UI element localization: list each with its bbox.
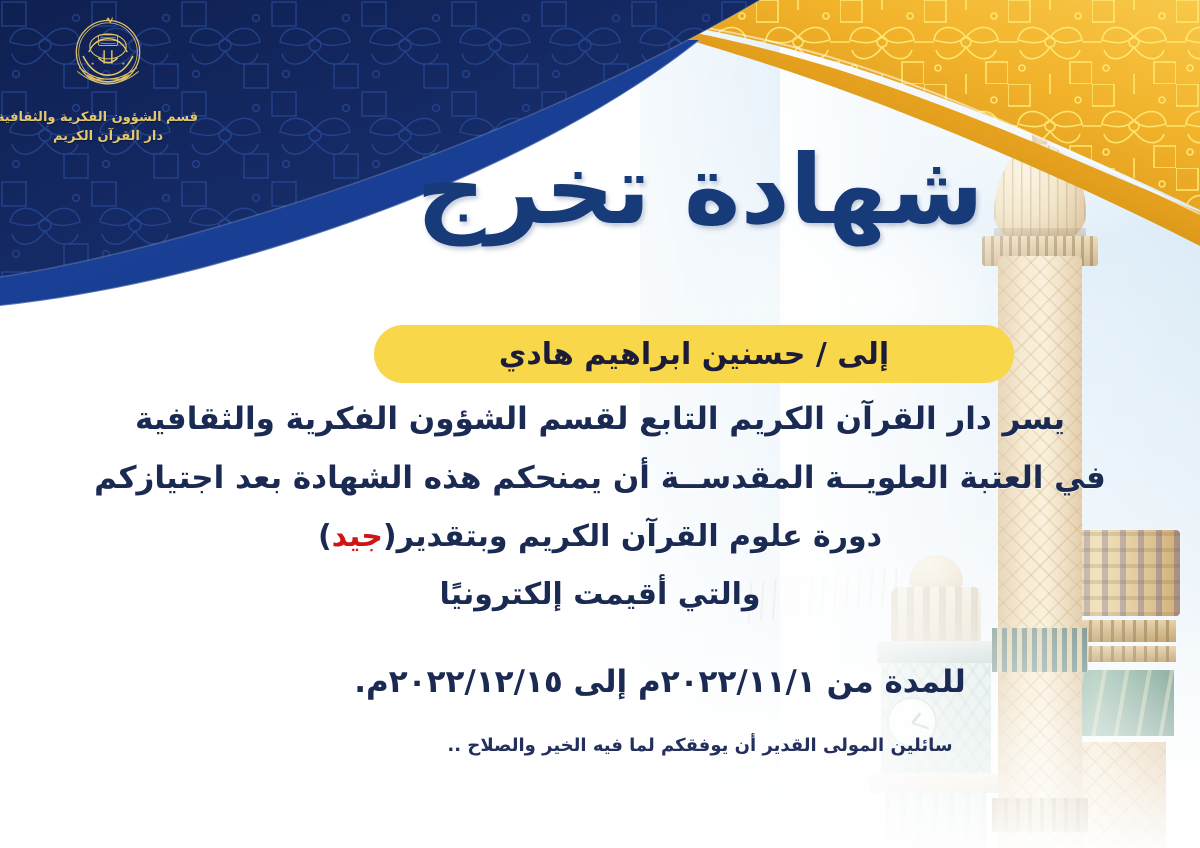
organization-house-label: دار القرآن الكريم bbox=[18, 129, 198, 144]
recipient-name-text: إلى / حسنين ابراهيم هادي bbox=[499, 337, 889, 372]
closing-statement: سائلين المولى القدير أن يوفقكم لما فيه ا… bbox=[200, 735, 1200, 756]
body-line-3-suffix: ) bbox=[318, 519, 332, 554]
minaret-tile-band-lower bbox=[992, 798, 1088, 832]
clock-tower-base bbox=[885, 793, 987, 848]
minaret-pole bbox=[1039, 16, 1042, 120]
ornate-minaret-shaft bbox=[1044, 742, 1166, 848]
body-line-1: يسر دار القرآن الكريم التابع لقسم الشؤون… bbox=[0, 404, 1200, 435]
body-line-4: والتي أقيمت إلكترونيًا bbox=[0, 580, 1200, 610]
body-line-3: دورة علوم القرآن الكريم وبتقدير(جيد) bbox=[0, 522, 1200, 552]
clock-tower-balcony bbox=[869, 773, 1003, 793]
clock-minute-hand bbox=[912, 722, 930, 729]
grade-value: جيد bbox=[332, 519, 383, 554]
organization-logo-block: قسم الشؤون الفكرية والثقافية دار القرآن … bbox=[18, 8, 198, 144]
certificate-page: قسم الشؤون الفكرية والثقافية دار القرآن … bbox=[0, 0, 1200, 848]
body-line-2: في العتبة العلويــة المقدســة أن يمنحكم … bbox=[0, 463, 1200, 494]
recipient-name-banner: إلى / حسنين ابراهيم هادي bbox=[374, 325, 1014, 383]
certificate-title: شهادة تخرج bbox=[380, 118, 1020, 262]
course-date-range: للمدة من ٢٠٢٢/١١/١م إلى ٢٠٢٢/١٢/١٥م. bbox=[120, 664, 1200, 700]
organization-department-label: قسم الشؤون الفكرية والثقافية bbox=[18, 110, 198, 125]
clock-tower-cornice bbox=[877, 641, 995, 663]
photo-bottom-fade bbox=[640, 608, 1200, 848]
certificate-body: يسر دار القرآن الكريم التابع لقسم الشؤون… bbox=[0, 404, 1200, 638]
body-line-3-prefix: دورة علوم القرآن الكريم وبتقدير( bbox=[383, 519, 882, 554]
clock-hour-hand bbox=[911, 712, 921, 724]
minaret-finial bbox=[1032, 116, 1048, 150]
al-atabah-seal-icon bbox=[60, 8, 156, 104]
ornate-minaret-ring-lower bbox=[1034, 646, 1176, 662]
